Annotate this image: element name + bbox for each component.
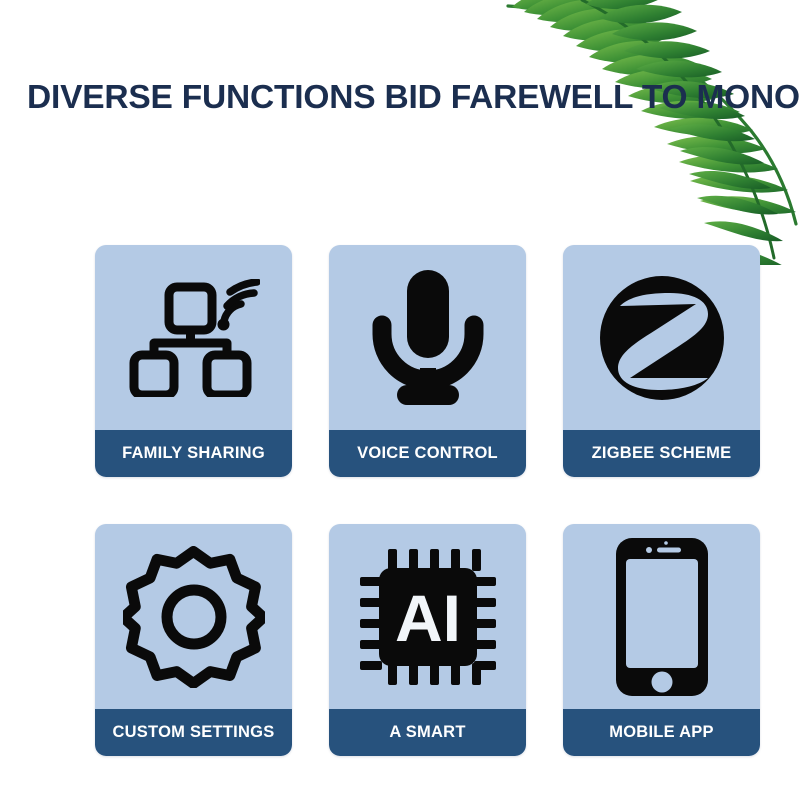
- zigbee-logo-icon: [563, 245, 760, 430]
- feature-card-label: FAMILY SHARING: [95, 430, 292, 477]
- feature-card-family-sharing[interactable]: FAMILY SHARING: [95, 245, 292, 477]
- network-sharing-icon: [95, 245, 292, 430]
- feature-card-label: VOICE CONTROL: [329, 430, 526, 477]
- feature-card-zigbee-scheme[interactable]: ZIGBEE SCHEME: [563, 245, 760, 477]
- gear-icon: [95, 524, 292, 709]
- page-title: DIVERSE FUNCTIONS BID FAREWELL TO MONOTO…: [27, 78, 787, 118]
- feature-card-grid: FAMILY SHARING VOICE CONTROL: [95, 245, 760, 756]
- microphone-icon: [329, 245, 526, 430]
- chip-text: AI: [395, 581, 461, 655]
- feature-card-label: CUSTOM SETTINGS: [95, 709, 292, 756]
- feature-card-label: MOBILE APP: [563, 709, 760, 756]
- feature-card-a-smart[interactable]: AI A SMART: [329, 524, 526, 756]
- ai-chip-icon: AI: [329, 524, 526, 709]
- feature-card-label: A SMART: [329, 709, 526, 756]
- palm-leaf-icon: [490, 0, 800, 265]
- smartphone-icon: [563, 524, 760, 709]
- feature-poster: DIVERSE FUNCTIONS BID FAREWELL TO MONOTO…: [0, 0, 800, 800]
- feature-card-custom-settings[interactable]: CUSTOM SETTINGS: [95, 524, 292, 756]
- feature-card-voice-control[interactable]: VOICE CONTROL: [329, 245, 526, 477]
- feature-card-mobile-app[interactable]: MOBILE APP: [563, 524, 760, 756]
- feature-card-label: ZIGBEE SCHEME: [563, 430, 760, 477]
